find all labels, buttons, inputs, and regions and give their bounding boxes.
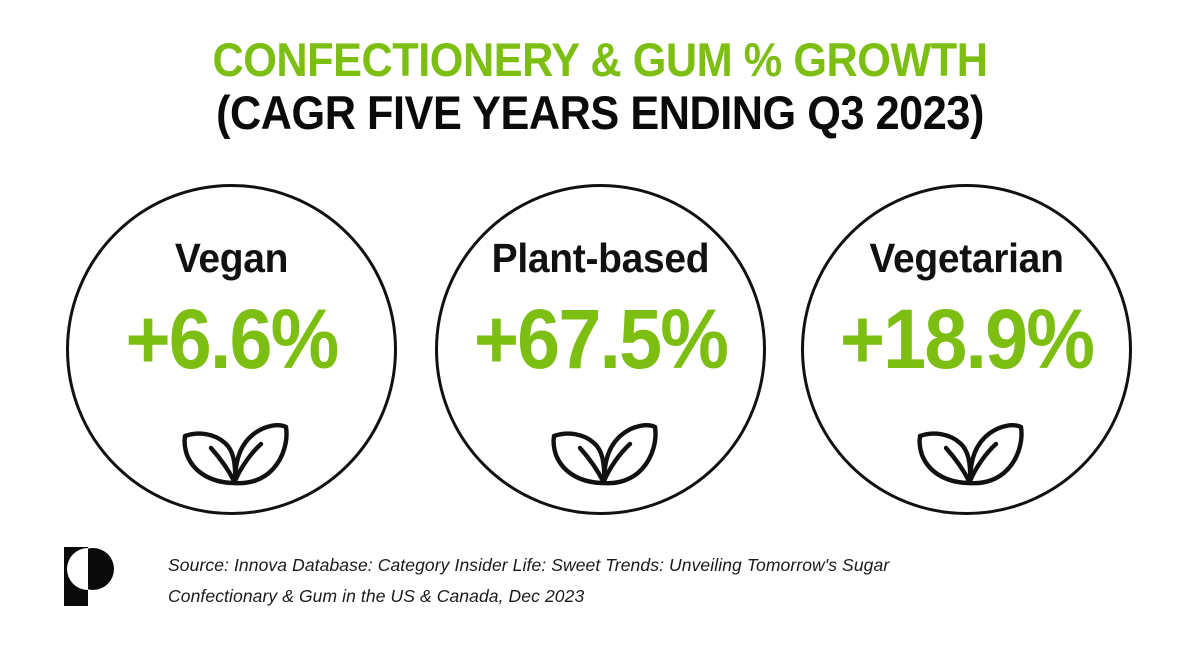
leaf-icon <box>548 415 660 489</box>
infographic-root: CONFECTIONERY & GUM % GROWTH (CAGR FIVE … <box>0 0 1200 647</box>
stat-circle-inner: Vegetarian +18.9% <box>804 187 1129 512</box>
stat-label-vegetarian: Vegetarian <box>812 235 1121 282</box>
stat-circle-plant-based: Plant-based +67.5% <box>435 184 766 515</box>
stat-label-vegan: Vegan <box>77 235 386 282</box>
title-line-primary: CONFECTIONERY & GUM % GROWTH <box>48 36 1152 83</box>
stat-label-plant-based: Plant-based <box>446 235 755 282</box>
stat-value-plant-based: +67.5% <box>451 297 750 381</box>
leaf-icon <box>914 415 1026 489</box>
footer: Source: Innova Database: Category Inside… <box>0 528 1200 628</box>
page-title: CONFECTIONERY & GUM % GROWTH (CAGR FIVE … <box>0 36 1200 136</box>
stat-circle-vegan: Vegan +6.6% <box>66 184 397 515</box>
stat-circle-inner: Plant-based +67.5% <box>438 187 763 512</box>
stat-circles-row: Vegan +6.6% Plant-based +67.5% <box>0 184 1200 516</box>
stat-circle-inner: Vegan +6.6% <box>69 187 394 512</box>
stat-circle-vegetarian: Vegetarian +18.9% <box>801 184 1132 515</box>
source-note: Source: Innova Database: Category Inside… <box>168 550 998 612</box>
leaf-icon <box>179 415 291 489</box>
stat-value-vegetarian: +18.9% <box>817 297 1116 381</box>
source-note-line-1: Source: Innova Database: Category Inside… <box>168 550 998 581</box>
title-line-secondary: (CAGR FIVE YEARS ENDING Q3 2023) <box>48 89 1152 136</box>
p-logo-icon <box>58 534 120 606</box>
stat-value-vegan: +6.6% <box>82 297 381 381</box>
source-note-line-2: Confectionary & Gum in the US & Canada, … <box>168 581 998 612</box>
